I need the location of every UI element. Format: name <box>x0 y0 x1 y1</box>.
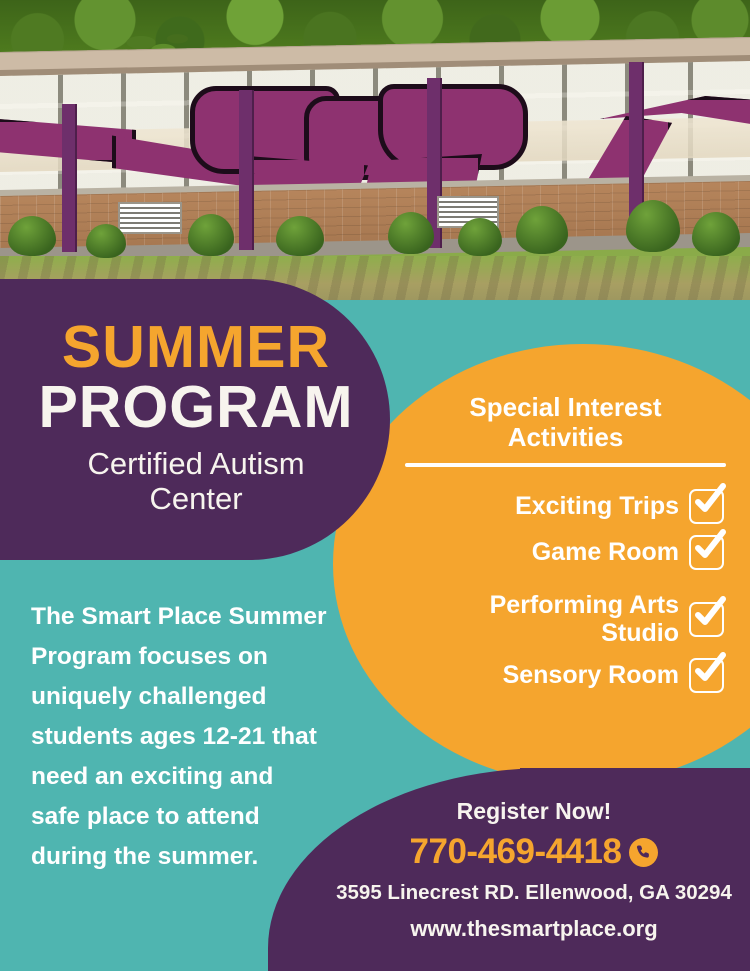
activities-divider <box>405 463 726 467</box>
phone-icon <box>629 838 658 867</box>
checkbox-checked-icon[interactable] <box>689 658 724 693</box>
air-conditioner-unit <box>118 202 182 234</box>
column <box>62 104 77 252</box>
website-url[interactable]: www.thesmartplace.org <box>318 916 750 942</box>
page-title-program: PROGRAM <box>0 377 392 437</box>
activity-label: Exciting Trips <box>515 493 679 521</box>
checkbox-checked-icon[interactable] <box>689 602 724 637</box>
program-description: The Smart Place Summer Program focuses o… <box>31 597 327 876</box>
activities-list: Exciting Trips Game Room Performing Arts… <box>393 489 738 693</box>
page-subtitle: Certified Autism Center <box>0 446 392 517</box>
activity-label: Performing Arts Studio <box>447 592 679 647</box>
page-subtitle-line2: Center <box>149 481 242 516</box>
activities-heading-line2: Activities <box>508 422 624 452</box>
list-item[interactable]: Performing Arts Studio <box>393 592 738 647</box>
header-photo <box>0 0 750 300</box>
phone-number[interactable]: 770-469-4418 <box>410 832 622 872</box>
contact-panel: Register Now! 770-469-4418 3595 Linecres… <box>318 798 750 942</box>
page-subtitle-line1: Certified Autism <box>87 446 304 481</box>
list-item[interactable]: Sensory Room <box>393 658 738 693</box>
register-call-to-action: Register Now! <box>318 798 750 825</box>
hedge <box>276 216 324 256</box>
activities-heading: Special Interest Activities <box>393 392 738 452</box>
phone-row[interactable]: 770-469-4418 <box>318 832 750 872</box>
hedge <box>388 212 434 254</box>
list-item[interactable]: Game Room <box>393 535 738 570</box>
page-title-summer: SUMMER <box>0 320 392 375</box>
street-address: 3595 Linecrest RD. Ellenwood, GA 30294 <box>318 881 750 905</box>
activities-heading-line1: Special Interest <box>469 392 661 422</box>
list-item[interactable]: Exciting Trips <box>393 489 738 524</box>
hedge <box>86 224 126 258</box>
column <box>239 90 254 250</box>
activity-label: Game Room <box>532 539 679 567</box>
activities-panel: Special Interest Activities Exciting Tri… <box>393 392 738 693</box>
hedge <box>8 216 56 256</box>
activity-label: Sensory Room <box>503 662 679 690</box>
checkbox-checked-icon[interactable] <box>689 535 724 570</box>
flyer-poster: SUMMER PROGRAM Certified Autism Center S… <box>0 0 750 971</box>
hedge <box>188 214 234 256</box>
hero-block: SUMMER PROGRAM Certified Autism Center <box>0 320 392 516</box>
hedge <box>458 218 502 256</box>
hedge <box>692 212 740 256</box>
checkbox-checked-icon[interactable] <box>689 489 724 524</box>
